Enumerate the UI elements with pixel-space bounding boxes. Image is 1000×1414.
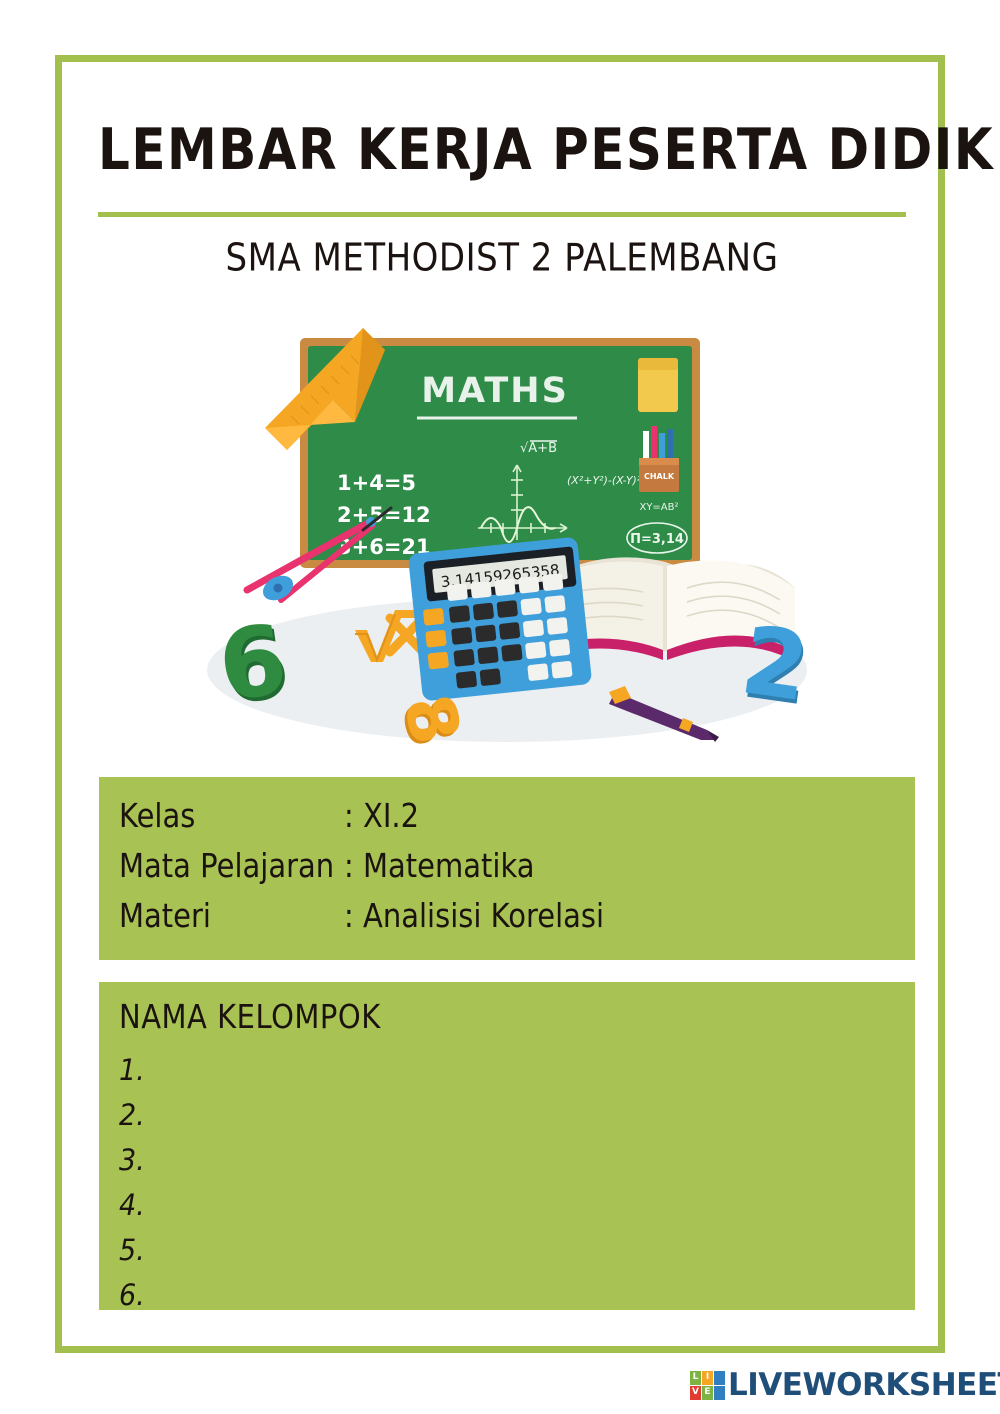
lesson-info-box: Kelas : XI.2 Mata Pelajaran : Matematika…	[99, 777, 915, 960]
logo-cell-6	[714, 1386, 725, 1400]
calculator: 3,14159265358	[408, 537, 593, 702]
liveworksheets-logo[interactable]: L I V E LIVEWORKSHEETS	[690, 1366, 1000, 1404]
group-names-box: NAMA KELOMPOK 1. 2. 3. 4. 5. 6.	[99, 982, 915, 1310]
info-label-kelas: Kelas	[119, 797, 344, 835]
board-pi-formula: Π=3,14	[630, 532, 684, 547]
number-six: 6 6	[212, 603, 296, 727]
board-xy-formula: XY=AB²	[639, 502, 678, 513]
info-value-kelas: : XI.2	[344, 797, 419, 835]
maths-illustration: MATHS 1+4=5 2+5=12 3+6=21 8 +11=? √A+B	[195, 300, 820, 755]
header: LEMBAR KERJA PESERTA DIDIK	[98, 120, 906, 173]
info-value-mata-pelajaran: : Matematika	[344, 847, 535, 885]
info-label-materi: Materi	[119, 897, 344, 935]
group-name-slot-4[interactable]: 4.	[119, 1181, 915, 1231]
info-row-kelas: Kelas : XI.2	[119, 799, 915, 849]
info-value-materi: : Analisisi Korelasi	[344, 897, 604, 935]
group-name-slot-5[interactable]: 5.	[119, 1226, 915, 1276]
chalk-box-label: CHALK	[644, 472, 675, 481]
logo-cell-3	[714, 1371, 725, 1385]
board-equation-1: 1+4=5	[337, 471, 416, 495]
title-divider	[98, 212, 906, 217]
group-names-title: NAMA KELOMPOK	[119, 998, 915, 1036]
board-radical-formula: √A+B	[520, 441, 557, 456]
worksheet-page: LEMBAR KERJA PESERTA DIDIK SMA METHODIST…	[0, 0, 1000, 1414]
group-name-slot-2[interactable]: 2.	[119, 1091, 915, 1141]
number-two: 2 2	[735, 606, 816, 727]
sponge-eraser-top	[638, 358, 678, 370]
board-title-text: MATHS	[421, 371, 569, 411]
school-subtitle: SMA METHODIST 2 PALEMBANG	[98, 236, 906, 281]
logo-cell-5: E	[702, 1386, 713, 1400]
liveworksheets-grid-icon: L I V E	[690, 1371, 725, 1400]
chalk-box: CHALK	[639, 426, 679, 492]
logo-cell-1: L	[690, 1371, 701, 1385]
page-title: LEMBAR KERJA PESERTA DIDIK	[98, 120, 906, 180]
group-name-slot-6[interactable]: 6.	[119, 1271, 915, 1321]
info-row-mata-pelajaran: Mata Pelajaran : Matematika	[119, 849, 915, 899]
group-name-slot-1[interactable]: 1.	[119, 1046, 915, 1096]
logo-cell-4: V	[690, 1386, 701, 1400]
liveworksheets-brand-text: LIVEWORKSHEETS	[728, 1370, 1000, 1401]
illustration-svg: MATHS 1+4=5 2+5=12 3+6=21 8 +11=? √A+B	[195, 300, 820, 755]
lesson-info-rows: Kelas : XI.2 Mata Pelajaran : Matematika…	[99, 777, 915, 949]
group-name-slot-3[interactable]: 3.	[119, 1136, 915, 1186]
info-row-materi: Materi : Analisisi Korelasi	[119, 899, 915, 949]
logo-cell-2: I	[702, 1371, 713, 1385]
group-names-inner: NAMA KELOMPOK 1. 2. 3. 4. 5. 6.	[99, 982, 915, 1318]
info-label-mata-pelajaran: Mata Pelajaran	[119, 847, 344, 885]
